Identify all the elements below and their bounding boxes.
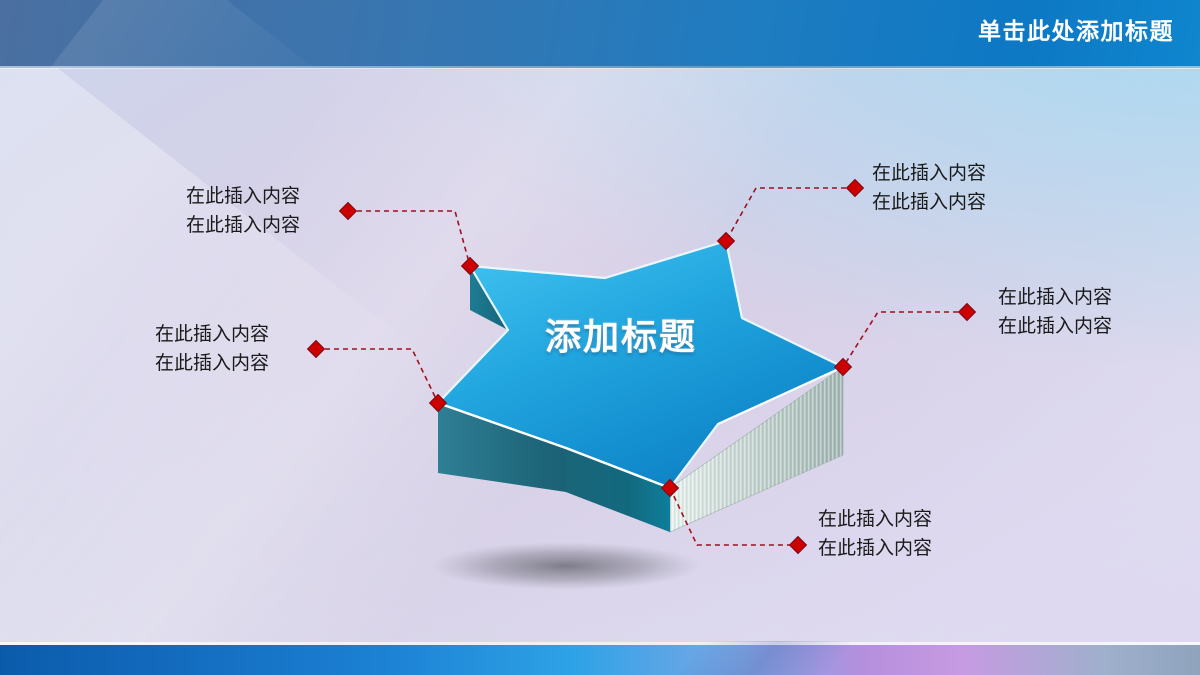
callout-top-left-line-1: 在此插入内容 [186,182,300,211]
callout-middle-right-line-1: 在此插入内容 [998,283,1112,312]
slide-footer-bar [0,645,1200,675]
callout-middle-left-line-1: 在此插入内容 [155,320,269,349]
callout-top-right-line-2: 在此插入内容 [872,188,986,217]
callout-middle-right[interactable]: 在此插入内容 在此插入内容 [998,283,1112,341]
diagram-stage: 添加标题 在此插入内容 在此插入内容 在此插入内容 在此插入内容 在此插入内容 … [0,0,1200,675]
footer-diagonal-accent [679,641,852,675]
marker-diamond-top-left-label [340,203,357,220]
callout-top-right[interactable]: 在此插入内容 在此插入内容 [872,159,986,217]
callout-bottom-line-2: 在此插入内容 [818,534,932,563]
callout-middle-left[interactable]: 在此插入内容 在此插入内容 [155,320,269,378]
callout-middle-right-line-2: 在此插入内容 [998,312,1112,341]
connector-middle-left [316,349,438,403]
star-center-title[interactable]: 添加标题 [545,308,697,360]
star-drop-shadow [431,542,701,590]
callout-bottom[interactable]: 在此插入内容 在此插入内容 [818,505,932,563]
callout-top-left[interactable]: 在此插入内容 在此插入内容 [186,182,300,240]
marker-diamond-top-right-label [847,180,864,197]
marker-diamond-bottom-label [790,537,807,554]
connector-middle-right [843,312,967,367]
marker-diamond-middle-left-label [308,341,325,358]
callout-middle-left-line-2: 在此插入内容 [155,349,269,378]
callout-top-left-line-2: 在此插入内容 [186,211,300,240]
callout-top-right-line-1: 在此插入内容 [872,159,986,188]
slide-canvas: 单击此处添加标题 [0,0,1200,675]
connector-top-right [726,188,855,241]
marker-diamond-middle-right-label [959,304,976,321]
connector-top-left [348,211,470,266]
callout-bottom-line-1: 在此插入内容 [818,505,932,534]
